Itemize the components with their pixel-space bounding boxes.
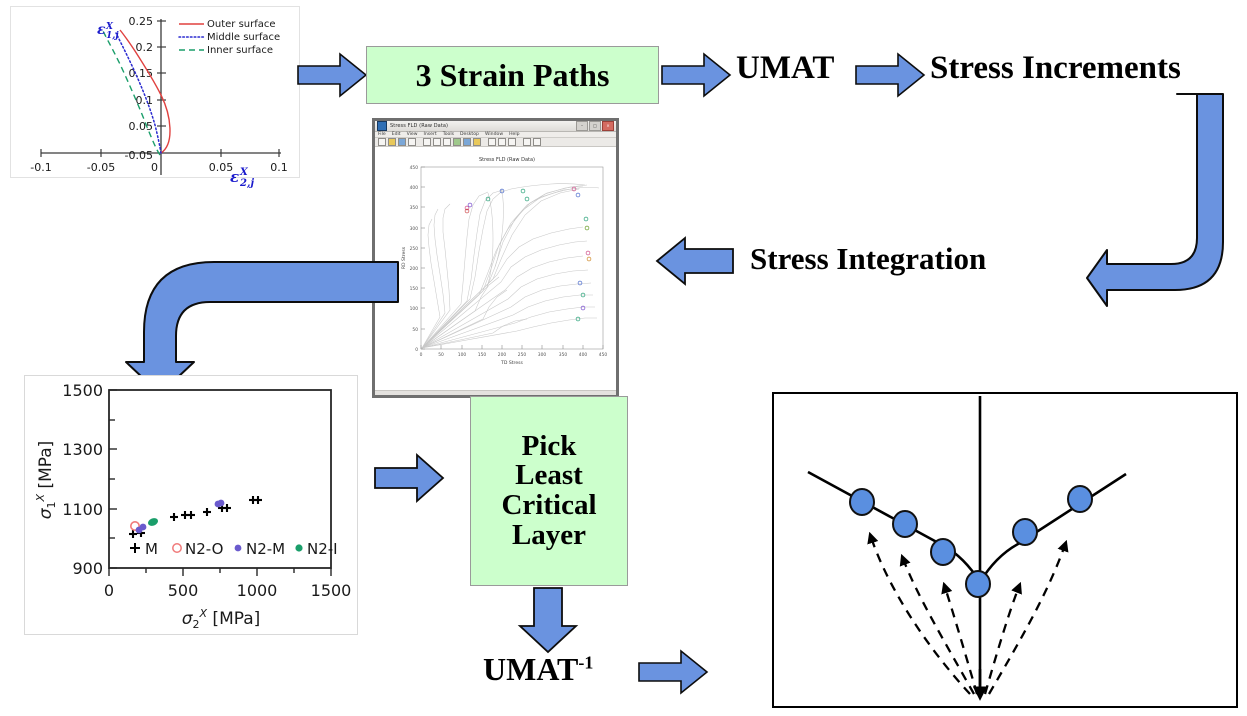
matlab-app-icon [377, 121, 387, 131]
legend-label-M: M [145, 540, 158, 558]
strain-paths-label: 3 Strain Paths [416, 59, 610, 92]
legend-label-N2-M: N2-M [246, 540, 285, 558]
menu-insert[interactable]: Insert [424, 132, 437, 137]
y-tick-label: 1500 [62, 381, 103, 400]
pick-line-3: Critical [501, 491, 596, 521]
forming-limit-diagram-panel [772, 392, 1238, 708]
stress-increments-label: Stress Increments [930, 50, 1181, 86]
loading-arrow-2 [902, 556, 974, 694]
x-tick-labels: 050100 150200250 300350400 450 [420, 352, 608, 358]
strain-path-panel: -0.1 -0.05 0 0.05 0.1 0.25 0.2 0.15 0.1 … [10, 6, 300, 178]
svg-text:150: 150 [410, 286, 419, 292]
pick-line-1: Pick [522, 432, 577, 462]
svg-text:300: 300 [538, 352, 547, 358]
svg-text:450: 450 [599, 352, 608, 358]
fld-marker [931, 539, 955, 565]
x-tick-label: 1500 [311, 581, 352, 600]
fld-marker [850, 489, 874, 515]
axes-box [421, 167, 603, 349]
pan-icon[interactable] [443, 138, 451, 146]
toolbar-separator [418, 138, 421, 146]
matlab-figure-window[interactable]: Stress FLD (Raw Data) – □ × File Edit Vi… [372, 118, 619, 398]
umat-label: UMAT [736, 50, 834, 86]
loading-path-arrows [870, 534, 1066, 694]
arrow-fld-to-pick-layer [373, 453, 445, 503]
fld-marker [1013, 519, 1037, 545]
legend-label-outer: Outer surface [207, 19, 276, 30]
umat-label-wrap: UMAT [736, 52, 834, 85]
y-tick-label: -0.05 [125, 149, 153, 162]
umat-inverse-label: UMAT [483, 651, 578, 687]
stress-integration-label: Stress Integration [750, 241, 986, 276]
hide-plot-tools-icon[interactable] [508, 138, 516, 146]
svg-text:σ1X [MPa]: σ1X [MPa] [34, 441, 58, 520]
svg-text:2,j: 2,j [239, 178, 254, 189]
matlab-plot-canvas: Stress FLD (Raw Data) 050100 150200250 3… [375, 147, 616, 390]
save-icon[interactable] [398, 138, 406, 146]
minimize-button[interactable]: – [576, 121, 588, 131]
x-tick-label: 0 [104, 581, 114, 600]
arrow-pick-layer-to-umat-inverse [512, 586, 584, 654]
svg-text:50: 50 [412, 327, 418, 333]
stress-integration-label-wrap: Stress Integration [750, 243, 986, 274]
y-tick-label: 0.05 [129, 120, 154, 133]
fld-marker [966, 571, 990, 597]
legend-label-inner: Inner surface [207, 45, 273, 56]
dock-figure-icon[interactable] [533, 138, 541, 146]
y-axis-ticks [109, 390, 117, 568]
maximize-button[interactable]: □ [589, 121, 601, 131]
brush-icon[interactable] [473, 138, 481, 146]
menu-desktop[interactable]: Desktop [460, 132, 479, 137]
svg-text:1,j: 1,j [106, 31, 119, 41]
umat-inverse-exponent: -1 [578, 652, 593, 672]
menu-tools[interactable]: Tools [443, 132, 454, 137]
y-tick-label: 0.25 [129, 15, 154, 28]
loading-arrow-3 [944, 584, 977, 694]
svg-text:X: X [105, 22, 114, 32]
svg-text:150: 150 [478, 352, 487, 358]
series-N2-I-markers [147, 517, 159, 528]
strain-path-chart: -0.1 -0.05 0 0.05 0.1 0.25 0.2 0.15 0.1 … [11, 7, 299, 177]
zoom-in-icon[interactable] [423, 138, 431, 146]
stress-fld-chart: 1500 1300 1100 900 0 500 1000 1500 σ1X [… [25, 376, 357, 634]
menu-help[interactable]: Help [509, 132, 519, 137]
x-tick-label: 0 [151, 161, 158, 174]
svg-text:250: 250 [518, 352, 527, 358]
new-figure-icon[interactable] [378, 138, 386, 146]
x-axis-ticks [421, 345, 603, 349]
fld-marker [1068, 486, 1092, 512]
matlab-toolbar[interactable] [375, 138, 616, 147]
svg-text:250: 250 [410, 246, 419, 252]
loading-arrow-5 [989, 542, 1066, 694]
insert-legend-icon[interactable] [498, 138, 506, 146]
x-tick-label: 500 [168, 581, 199, 600]
y-tick-label: 1300 [62, 440, 103, 459]
arrow-umat-inverse-to-fld-diagram [637, 649, 709, 695]
show-plot-tools-icon[interactable] [523, 138, 531, 146]
series-N2-M-markers [136, 500, 225, 534]
loading-arrow-4 [985, 584, 1020, 694]
strain-path-x-axis-label: ε 2,j X [228, 162, 298, 190]
close-button[interactable]: × [602, 121, 614, 131]
toolbar-separator [483, 138, 486, 146]
fld-marker [893, 511, 917, 537]
svg-text:300: 300 [410, 226, 419, 232]
svg-text:X: X [239, 167, 249, 178]
legend-label-N2-I: N2-I [307, 540, 338, 558]
insert-colorbar-icon[interactable] [488, 138, 496, 146]
y-tick-label: 0.2 [136, 41, 154, 54]
arrow-integration-to-matlab [655, 235, 735, 287]
stress-fld-raw-chart: Stress FLD (Raw Data) 050100 150200250 3… [375, 147, 616, 390]
x-tick-labels: 0 500 1000 1500 [104, 581, 351, 600]
y-axis-label: σ1X [MPa] [34, 441, 58, 520]
x-tick-label: -0.05 [87, 161, 115, 174]
x-tick-label: -0.1 [30, 161, 51, 174]
svg-text:200: 200 [498, 352, 507, 358]
umat-inverse-label-wrap: UMAT-1 [483, 653, 593, 685]
pick-least-critical-layer-box[interactable]: Pick Least Critical Layer [470, 396, 628, 586]
stress-fld-panel: 1500 1300 1100 900 0 500 1000 1500 σ1X [… [24, 375, 358, 635]
y-tick-labels: 050100 150200250 300350400 450 [410, 165, 419, 353]
stress-increments-label-wrap: Stress Increments [930, 52, 1181, 85]
x-tick-label: 1000 [237, 581, 278, 600]
matlab-titlebar[interactable]: Stress FLD (Raw Data) – □ × [375, 121, 616, 132]
chart-legend: M N2-O N2-M N2-I [130, 540, 338, 558]
svg-text:ε: ε [230, 168, 239, 186]
svg-text:100: 100 [458, 352, 467, 358]
svg-text:0: 0 [420, 352, 423, 358]
svg-text:400: 400 [410, 185, 419, 191]
matlab-statusbar [375, 390, 616, 395]
svg-text:450: 450 [410, 165, 419, 171]
legend-label-N2-O: N2-O [185, 540, 223, 558]
strain-paths-box[interactable]: 3 Strain Paths [366, 46, 659, 104]
x-axis-label: σ2X [MPa] [182, 607, 261, 631]
svg-text:350: 350 [559, 352, 568, 358]
rotate3d-icon[interactable] [453, 138, 461, 146]
y-tick-label: 1100 [62, 500, 103, 519]
menu-edit[interactable]: Edit [392, 132, 401, 137]
x-axis-ticks [109, 568, 331, 576]
window-controls[interactable]: – □ × [576, 121, 614, 131]
svg-text:350: 350 [410, 205, 419, 211]
matlab-window-title: Stress FLD (Raw Data) [390, 123, 448, 129]
y-tick-label: 900 [72, 559, 103, 578]
svg-text:50: 50 [438, 352, 444, 358]
arrow-strain-paths-to-umat [660, 52, 732, 98]
loading-arrow-1 [870, 534, 970, 694]
x-axis-label: TD Stress [500, 360, 524, 366]
forming-limit-diagram [774, 394, 1236, 706]
menu-window[interactable]: Window [485, 132, 503, 137]
chart-legend: Outer surface Middle surface Inner surfa… [179, 19, 280, 56]
arrow-to-strain-paths [296, 52, 368, 98]
y-axis-label: ε 1,j X [97, 22, 119, 41]
svg-text:400: 400 [579, 352, 588, 358]
svg-text:0: 0 [415, 347, 418, 353]
svg-text:σ2X [MPa]: σ2X [MPa] [182, 607, 261, 631]
y-tick-labels: 1500 1300 1100 900 [62, 381, 103, 578]
print-icon[interactable] [408, 138, 416, 146]
menu-file[interactable]: File [378, 132, 386, 137]
arrow-bent-stress-increments-to-integration [1085, 92, 1247, 312]
svg-text:100: 100 [410, 306, 419, 312]
series-M-markers [129, 496, 262, 538]
toolbar-separator [518, 138, 521, 146]
open-folder-icon[interactable] [388, 138, 396, 146]
stress-path-endpoints [465, 187, 591, 321]
stress-path-curves [422, 184, 599, 348]
fld-markers [850, 486, 1092, 597]
pick-line-2: Least [515, 461, 583, 491]
svg-text:200: 200 [410, 266, 419, 272]
y-axis-ticks [421, 167, 425, 349]
legend-label-middle: Middle surface [207, 32, 280, 43]
arrow-umat-to-stress-increments [854, 52, 926, 98]
zoom-out-icon[interactable] [433, 138, 441, 146]
menu-view[interactable]: View [407, 132, 418, 137]
plot-title: Stress FLD (Raw Data) [479, 157, 535, 163]
data-cursor-icon[interactable] [463, 138, 471, 146]
pick-line-4: Layer [512, 521, 586, 551]
svg-text:ε: ε [97, 22, 106, 38]
